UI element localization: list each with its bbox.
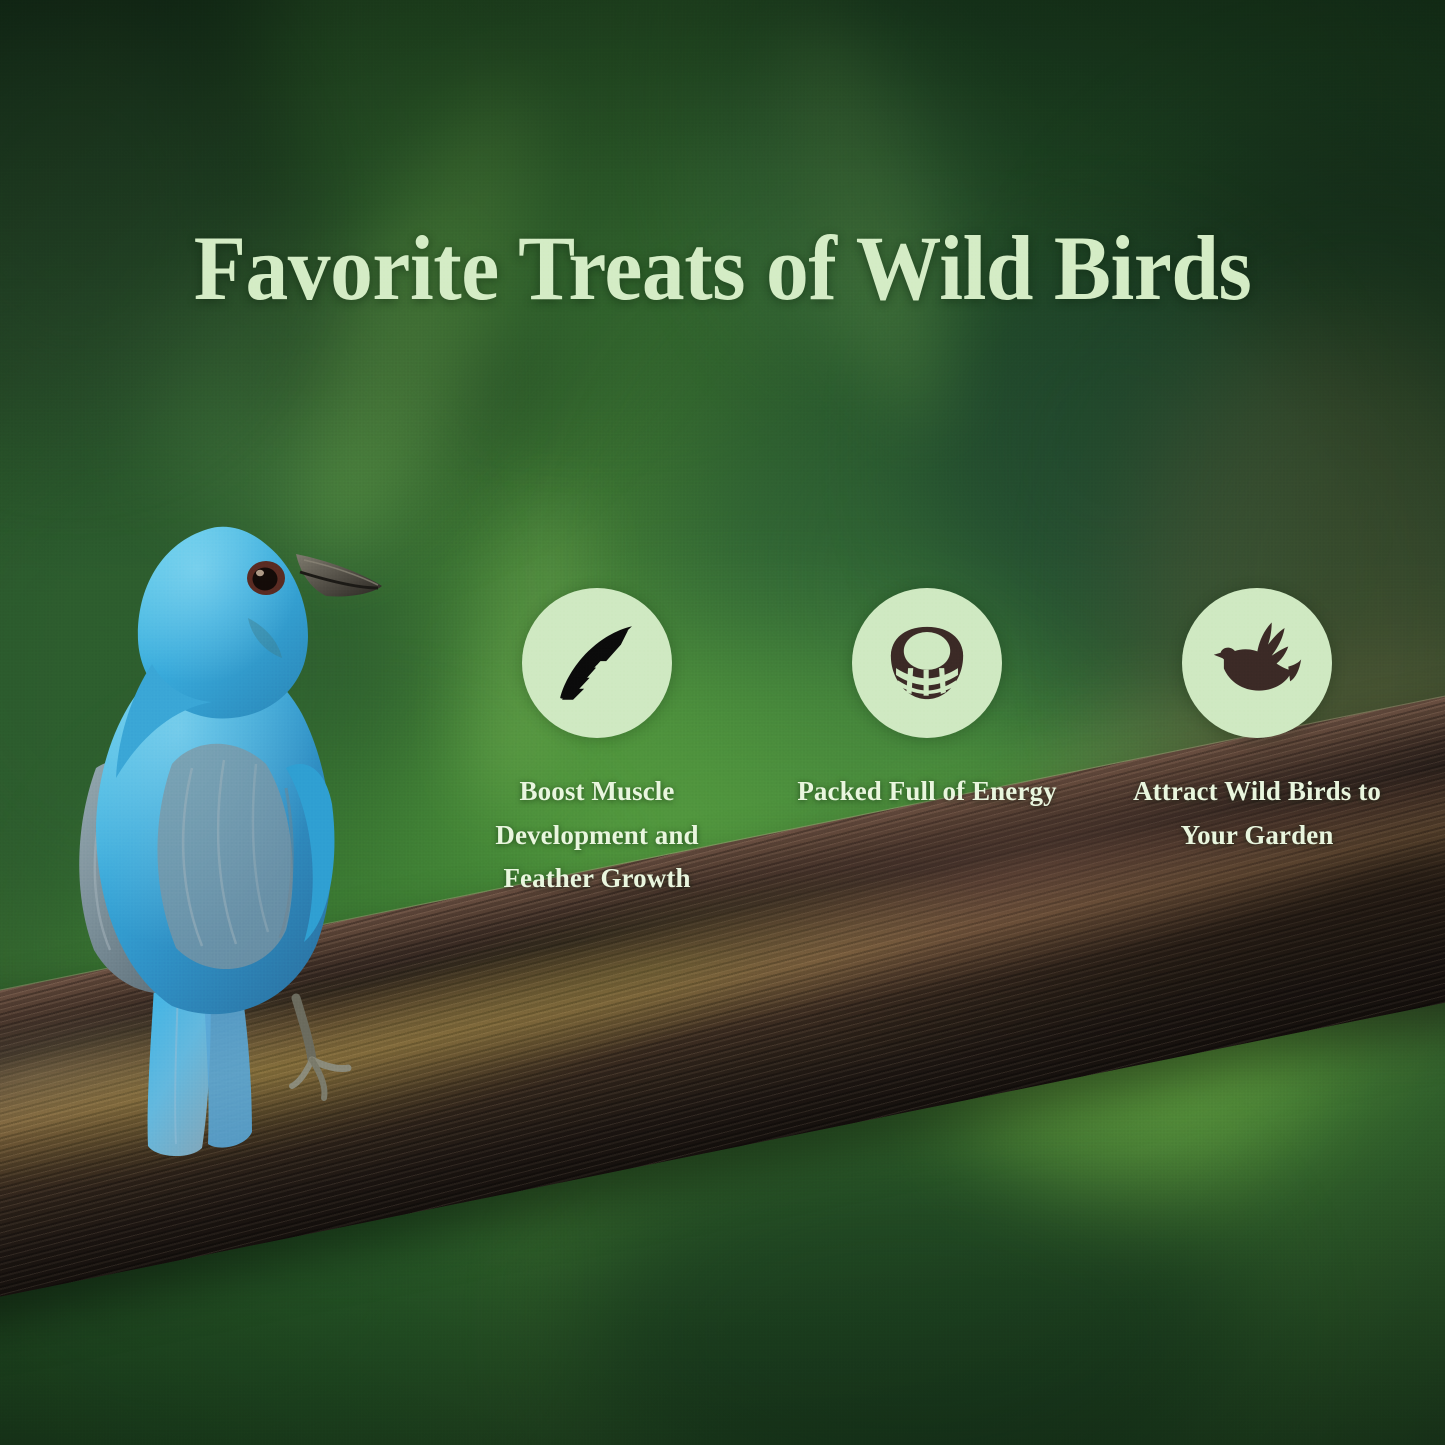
flying-bird-icon: [1211, 617, 1303, 709]
feature-item-feather: Boost Muscle Development and Feather Gro…: [452, 588, 742, 901]
feature-item-nest: Packed Full of Energy: [782, 588, 1072, 814]
feature-list: Boost Muscle Development and Feather Gro…: [452, 588, 1402, 901]
nest-icon: [884, 620, 970, 706]
feature-caption: Packed Full of Energy: [782, 770, 1072, 814]
product-lifestyle-banner: Favorite Treats of Wild Birds: [0, 0, 1445, 1445]
feature-caption: Attract Wild Birds to Your Garden: [1117, 770, 1397, 857]
feature-icon-badge: [522, 588, 672, 738]
feature-icon-badge: [852, 588, 1002, 738]
feature-icon-badge: [1182, 588, 1332, 738]
feature-item-bird: Attract Wild Birds to Your Garden: [1112, 588, 1402, 857]
feather-icon: [551, 617, 643, 709]
page-title: Favorite Treats of Wild Birds: [51, 222, 1395, 314]
feature-caption: Boost Muscle Development and Feather Gro…: [462, 770, 732, 901]
blue-bird-photo: [60, 468, 440, 1168]
